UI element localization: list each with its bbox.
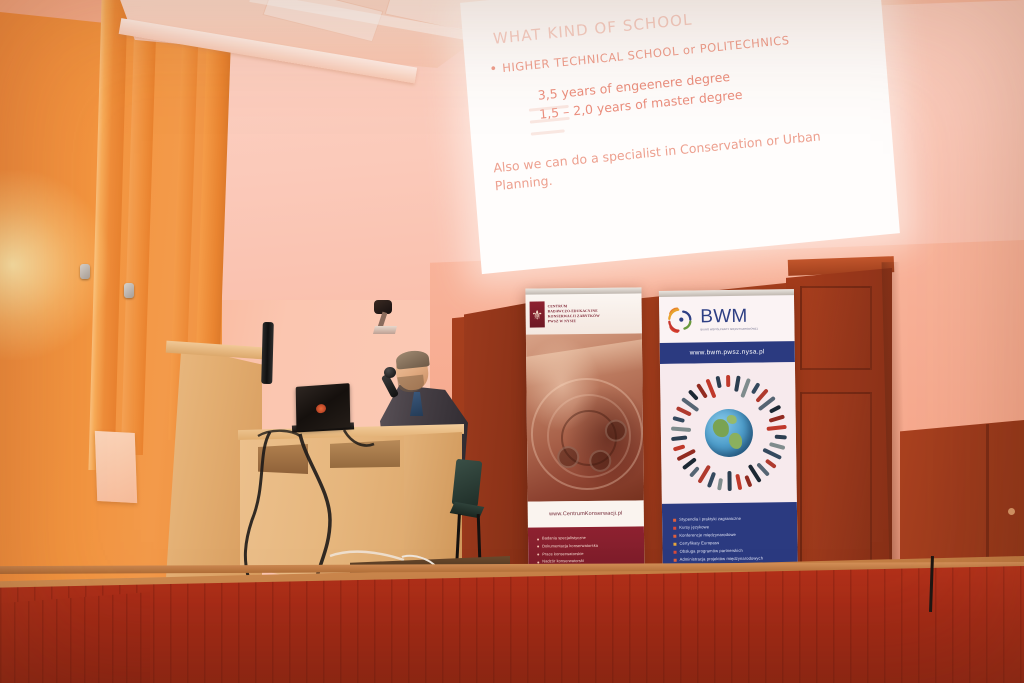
lecture-hall-photo: WHAT KIND OF SCHOOL HIGHER TECHNICAL SCH… <box>0 0 1024 683</box>
stage-step <box>0 592 150 683</box>
